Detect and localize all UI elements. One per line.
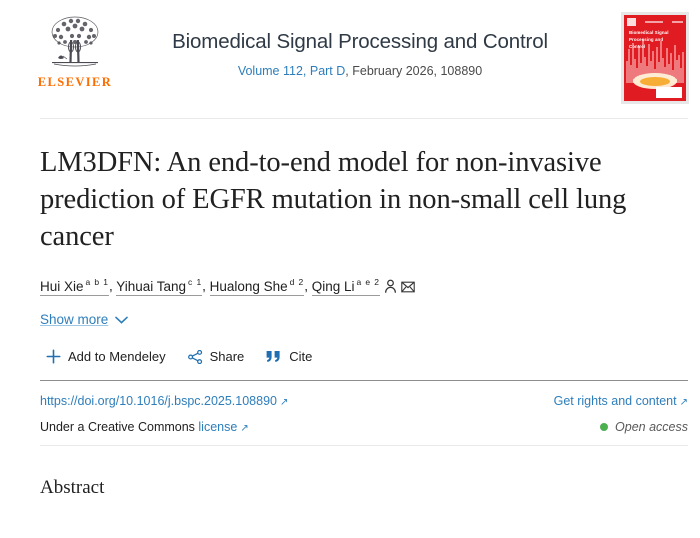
author-separator: , — [304, 279, 308, 294]
author-item[interactable]: Hui Xiea b 1 — [40, 279, 109, 296]
cover-rule — [645, 21, 663, 23]
page-title: LM3DFN: An end-to-end model for non-inva… — [40, 145, 652, 255]
cite-button[interactable]: Cite — [266, 349, 312, 364]
author-separator: , — [109, 279, 113, 294]
journal-name: Biomedical Signal Processing and Control — [130, 30, 590, 55]
cover-barcode — [656, 87, 682, 98]
article-meta: https://doi.org/10.1016/j.bspc.2025.1088… — [0, 394, 700, 434]
doi-link[interactable]: https://doi.org/10.1016/j.bspc.2025.1088… — [40, 394, 288, 408]
author-profile-icon[interactable] — [384, 279, 397, 299]
cover-rule-small — [672, 21, 683, 23]
elsevier-wordmark: ELSEVIER — [32, 75, 118, 90]
doi-row: https://doi.org/10.1016/j.bspc.2025.1088… — [40, 394, 688, 408]
cite-label: Cite — [289, 349, 312, 364]
quote-icon — [266, 350, 282, 363]
share-label: Share — [210, 349, 245, 364]
journal-cover-thumbnail[interactable]: Biomedical Signal Processing and Control — [621, 12, 689, 104]
issue-date: , February 2026, 108890 — [345, 64, 482, 78]
header-divider — [40, 118, 688, 119]
author-name: Hualong She — [210, 279, 288, 294]
open-access-dot-icon — [600, 423, 608, 431]
author-item[interactable]: Hualong Shed 2 — [210, 279, 305, 296]
issue-link[interactable]: Volume 112, Part D — [238, 64, 345, 78]
author-name: Qing Li — [312, 279, 355, 294]
license-divider — [40, 445, 688, 446]
author-item[interactable]: Yihuai Tangc 1 — [116, 279, 202, 296]
show-more-label: Show more — [40, 312, 108, 327]
journal-title-block: Biomedical Signal Processing and Control… — [130, 30, 590, 78]
author-affiliation-marks[interactable]: c 1 — [186, 277, 202, 287]
elsevier-tree-icon — [44, 12, 106, 74]
elsevier-logo[interactable]: ELSEVIER — [32, 12, 118, 96]
author-separator: , — [202, 279, 206, 294]
open-access-label: Open access — [615, 420, 688, 434]
author-name: Hui Xie — [40, 279, 84, 294]
author-list: Hui Xiea b 1, Yihuai Tangc 1, Hualong Sh… — [40, 276, 688, 299]
abstract-heading: Abstract — [40, 477, 688, 499]
share-nodes-icon — [188, 350, 203, 364]
author-name: Yihuai Tang — [116, 279, 186, 294]
add-to-mendeley-label: Add to Mendeley — [68, 349, 166, 364]
author-affiliation-marks[interactable]: a b 1 — [84, 277, 109, 287]
journal-issue: Volume 112, Part D, February 2026, 10889… — [130, 64, 590, 78]
get-rights-label: Get rights and content — [554, 394, 677, 408]
external-link-icon: ↗ — [680, 397, 688, 408]
article-container: LM3DFN: An end-to-end model for non-inva… — [0, 145, 700, 364]
share-button[interactable]: Share — [188, 349, 245, 364]
abstract-section: Abstract — [0, 477, 700, 527]
actions-divider — [40, 380, 688, 381]
author-affiliation-marks[interactable]: a e 2 — [355, 277, 380, 287]
license-row: Under a Creative Commons license↗ Open a… — [40, 420, 688, 434]
chevron-down-icon — [115, 312, 128, 327]
author-email-icon[interactable] — [401, 279, 415, 299]
journal-header: ELSEVIER Biomedical Signal Processing an… — [0, 0, 700, 118]
external-link-icon: ↗ — [240, 423, 248, 434]
abstract-body-clipped — [40, 521, 688, 527]
author-item[interactable]: Qing Lia e 2 — [312, 279, 380, 296]
get-rights-and-content-link[interactable]: Get rights and content↗ — [554, 394, 688, 408]
license-link-label: license — [198, 420, 237, 434]
cover-ellipse-accent — [640, 77, 670, 86]
cover-topbar — [627, 17, 683, 26]
external-link-icon: ↗ — [280, 397, 288, 408]
author-affiliation-marks[interactable]: d 2 — [288, 277, 305, 287]
plus-icon — [46, 349, 61, 364]
creative-commons-license-link[interactable]: license↗ — [198, 420, 248, 434]
open-access-badge: Open access — [600, 420, 688, 434]
cover-elsevier-mark — [627, 18, 636, 26]
doi-link-label: https://doi.org/10.1016/j.bspc.2025.1088… — [40, 394, 277, 408]
article-actions: Add to Mendeley Share Cite — [46, 349, 688, 364]
add-to-mendeley-button[interactable]: Add to Mendeley — [46, 349, 166, 364]
show-more-toggle[interactable]: Show more — [40, 312, 128, 327]
license-prefix: Under a Creative Commons — [40, 420, 195, 434]
license-statement: Under a Creative Commons license↗ — [40, 420, 249, 434]
journal-cover-art: Biomedical Signal Processing and Control — [624, 15, 686, 101]
